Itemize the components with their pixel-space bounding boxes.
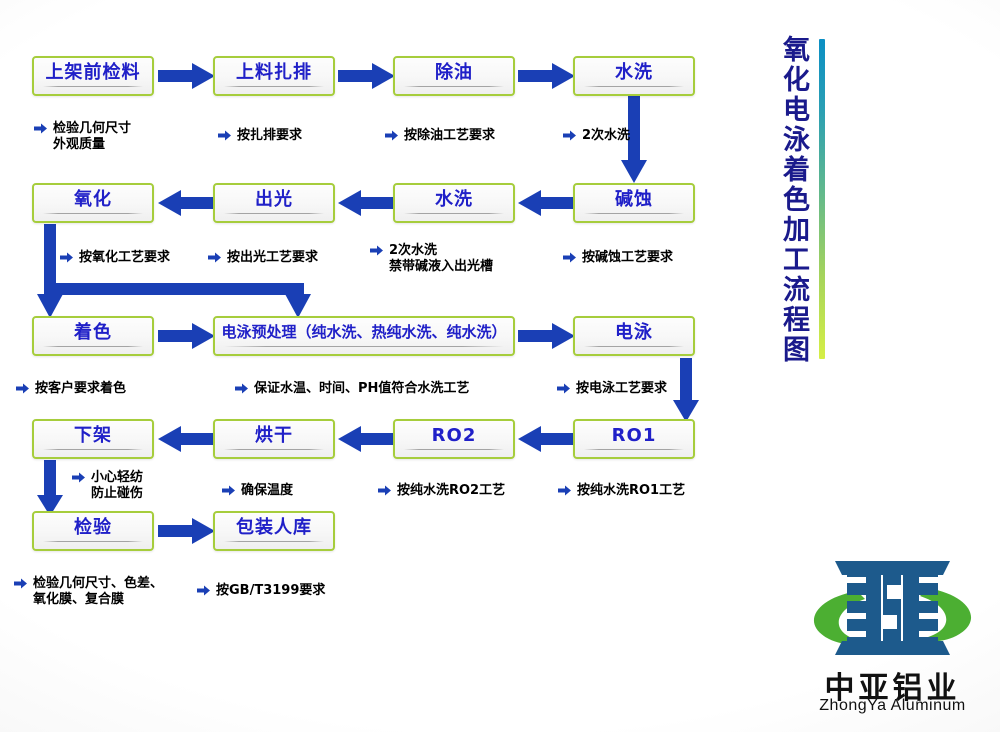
process-box-ro1[interactable]: RO1 (573, 419, 695, 459)
logo-english-name: ZhongYa Aluminum (795, 697, 990, 715)
process-label: 上架前检料 (46, 64, 141, 82)
note-text: 2次水洗 禁带碱液入出光槽 (389, 243, 493, 276)
arrow-alkaline-to-waterwash2 (518, 190, 573, 216)
note-text: 小心轻纺 防止碰伤 (91, 470, 143, 503)
arrow-coloring-to-ed-pretreat (158, 323, 215, 349)
process-label: 除油 (435, 64, 473, 82)
note-inspection: 检验几何尺寸、色差、 氧化膜、复合膜 (14, 576, 163, 609)
note-text: 按纯水洗RO1工艺 (577, 483, 685, 499)
note-text: 按扎排要求 (237, 128, 302, 144)
arrow-inspection-to-packing (158, 518, 215, 544)
process-label: 氧化 (74, 191, 112, 209)
process-label: 碱蚀 (615, 191, 653, 209)
note-ro2: 按纯水洗RO2工艺 (378, 483, 505, 499)
company-logo: 中亚铝业 ZhongYa Aluminum (795, 555, 990, 720)
note-water-wash-1: 2次水洗 (563, 128, 630, 144)
process-box-brighten[interactable]: 出光 (213, 183, 335, 223)
note-alkaline-etch: 按碱蚀工艺要求 (563, 250, 673, 266)
process-box-degrease[interactable]: 除油 (393, 56, 515, 96)
process-label: 着色 (74, 324, 112, 342)
note-text: 确保温度 (241, 483, 293, 499)
arrow-drying-to-unload (158, 426, 213, 452)
arrow-anodize-to-ed-pretreat (44, 283, 311, 318)
process-box-ro2[interactable]: RO2 (393, 419, 515, 459)
arrow-degrease-to-waterwash1 (518, 63, 575, 89)
bullet-arrow-icon (563, 252, 576, 263)
bullet-arrow-icon (14, 578, 27, 589)
bullet-arrow-icon (218, 130, 231, 141)
note-text: 按GB/T3199要求 (216, 583, 325, 599)
process-box-coloring[interactable]: 着色 (32, 316, 154, 356)
bullet-arrow-icon (558, 485, 571, 496)
bullet-arrow-icon (34, 123, 47, 134)
bullet-arrow-icon (557, 383, 570, 394)
bullet-arrow-icon (385, 130, 398, 141)
arrow-ro1-to-ro2 (518, 426, 573, 452)
bullet-arrow-icon (563, 130, 576, 141)
note-drying: 确保温度 (222, 483, 293, 499)
diagram-title-block: 氧化电泳着色加工流程图 (780, 35, 890, 375)
note-text: 按除油工艺要求 (404, 128, 495, 144)
arrow-ro2-to-drying (338, 426, 393, 452)
note-loading-tie: 按扎排要求 (218, 128, 302, 144)
process-box-loading-tie[interactable]: 上料扎排 (213, 56, 335, 96)
process-box-pre-inspect[interactable]: 上架前检料 (32, 56, 154, 96)
note-water-wash-2: 2次水洗 禁带碱液入出光槽 (370, 243, 493, 276)
process-label: 电泳 (615, 324, 653, 342)
process-box-inspection[interactable]: 检验 (32, 511, 154, 551)
process-label: 检验 (74, 519, 112, 537)
note-text: 检验几何尺寸 外观质量 (53, 121, 131, 154)
page-title: 氧化电泳着色加工流程图 (780, 35, 807, 365)
logo-mark-icon (795, 555, 990, 663)
process-label: RO1 (612, 427, 657, 445)
bullet-arrow-icon (378, 485, 391, 496)
process-label: 下架 (74, 427, 112, 445)
process-box-packing[interactable]: 包装人库 (213, 511, 335, 551)
note-text: 按电泳工艺要求 (576, 381, 667, 397)
bullet-arrow-icon (197, 585, 210, 596)
arrow-loading-to-degrease (338, 63, 395, 89)
arrow-ed-pretreat-to-electrophoresis (518, 323, 575, 349)
bullet-arrow-icon (60, 252, 73, 263)
process-box-ed-pretreat[interactable]: 电泳预处理（纯水洗、热纯水洗、纯水洗） (213, 316, 515, 356)
note-coloring: 按客户要求着色 (16, 381, 126, 397)
bullet-arrow-icon (208, 252, 221, 263)
process-box-water-wash-2[interactable]: 水洗 (393, 183, 515, 223)
process-box-water-wash-1[interactable]: 水洗 (573, 56, 695, 96)
note-text: 2次水洗 (582, 128, 630, 144)
process-label: 烘干 (255, 427, 293, 445)
arrow-anodize-to-coloring (37, 224, 63, 318)
note-ro1: 按纯水洗RO1工艺 (558, 483, 685, 499)
process-box-alkaline-etch[interactable]: 碱蚀 (573, 183, 695, 223)
note-text: 按客户要求着色 (35, 381, 126, 397)
arrow-waterwash2-to-brighten (338, 190, 393, 216)
bullet-arrow-icon (222, 485, 235, 496)
process-label: 电泳预处理（纯水洗、热纯水洗、纯水洗） (221, 325, 506, 340)
process-label: RO2 (432, 427, 477, 445)
arrow-electrophoresis-to-ro1 (673, 358, 699, 422)
process-label: 出光 (255, 191, 293, 209)
note-text: 按纯水洗RO2工艺 (397, 483, 505, 499)
note-text: 检验几何尺寸、色差、 氧化膜、复合膜 (33, 576, 163, 609)
process-box-electrophoresis[interactable]: 电泳 (573, 316, 695, 356)
bullet-arrow-icon (16, 383, 29, 394)
process-box-anodize[interactable]: 氧化 (32, 183, 154, 223)
process-label: 包装人库 (236, 519, 312, 537)
process-label: 水洗 (435, 191, 473, 209)
arrow-pre-inspect-to-loading (158, 63, 215, 89)
note-pre-inspect: 检验几何尺寸 外观质量 (34, 121, 131, 154)
note-text: 按氧化工艺要求 (79, 250, 170, 266)
note-anodize: 按氧化工艺要求 (60, 250, 170, 266)
bullet-arrow-icon (370, 245, 383, 256)
arrow-brighten-to-anodize (158, 190, 213, 216)
bullet-arrow-icon (235, 383, 248, 394)
note-ed-pretreat: 保证水温、时间、PH值符合水洗工艺 (235, 381, 469, 397)
process-label: 水洗 (615, 64, 653, 82)
arrow-unload-to-inspection (37, 460, 63, 516)
note-unload: 小心轻纺 防止碰伤 (72, 470, 143, 503)
title-gradient-bar (819, 39, 825, 359)
note-brighten: 按出光工艺要求 (208, 250, 318, 266)
note-text: 按碱蚀工艺要求 (582, 250, 673, 266)
process-box-unload[interactable]: 下架 (32, 419, 154, 459)
process-label: 上料扎排 (236, 64, 312, 82)
bullet-arrow-icon (72, 472, 85, 483)
note-text: 按出光工艺要求 (227, 250, 318, 266)
note-text: 保证水温、时间、PH值符合水洗工艺 (254, 381, 469, 397)
note-electrophoresis: 按电泳工艺要求 (557, 381, 667, 397)
note-degrease: 按除油工艺要求 (385, 128, 495, 144)
note-packing: 按GB/T3199要求 (197, 583, 325, 599)
process-box-drying[interactable]: 烘干 (213, 419, 335, 459)
